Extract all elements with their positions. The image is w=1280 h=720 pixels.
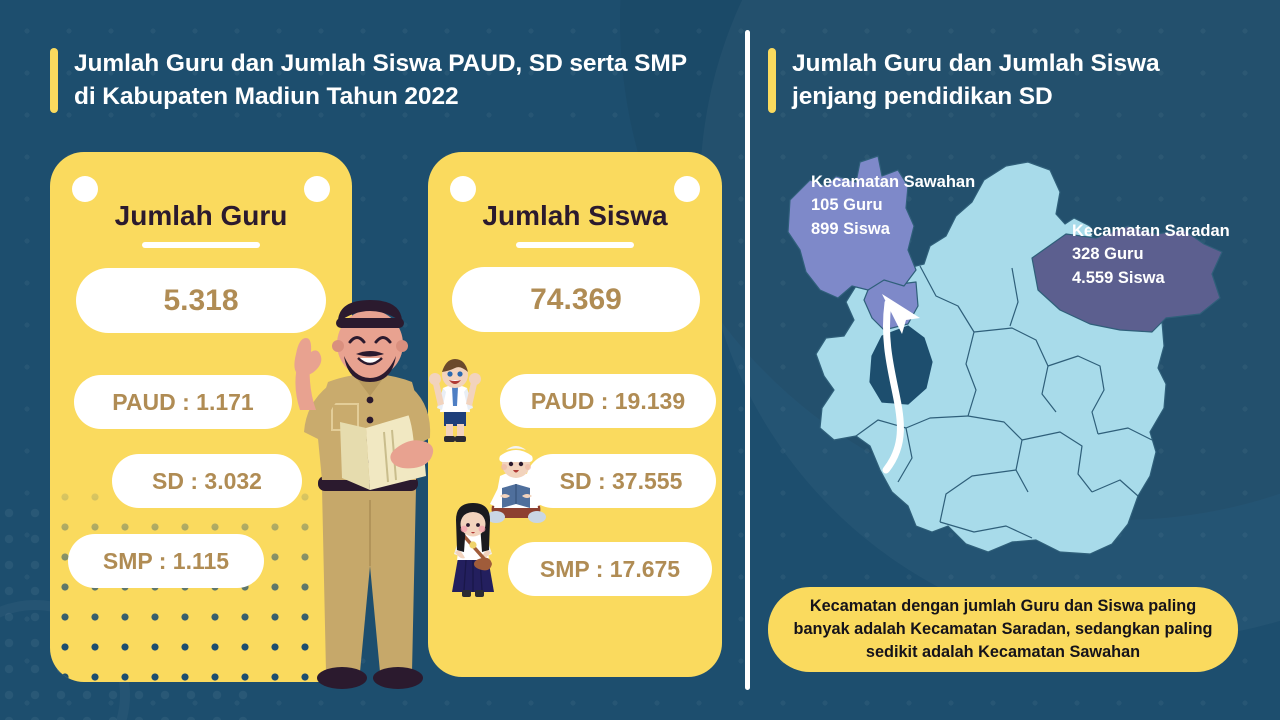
card-heading-siswa: Jumlah Siswa: [428, 200, 722, 232]
guru-sd-pill: SD : 3.032: [112, 454, 302, 508]
siswa-smp-pill: SMP : 17.675: [508, 542, 712, 596]
card-jumlah-siswa: Jumlah Siswa 74.369 PAUD : 19.139 SD : 3…: [428, 152, 722, 677]
card-punch-hole-left-guru: [72, 176, 98, 202]
left-title-text: Jumlah Guru dan Jumlah Siswa PAUD, SD se…: [74, 48, 710, 113]
summary-note-text: Kecamatan dengan jumlah Guru dan Siswa p…: [786, 595, 1220, 664]
siswa-total-pill: 74.369: [452, 267, 700, 332]
map-annotation-saradan: Kecamatan Saradan 328 Guru 4.559 Siswa: [1072, 220, 1230, 290]
sawahan-students: 899 Siswa: [811, 218, 975, 241]
guru-total-pill: 5.318: [76, 268, 326, 333]
right-title-text: Jumlah Guru dan Jumlah Siswa jenjang pen…: [792, 48, 1238, 113]
card-underline-siswa: [516, 242, 634, 248]
card-punch-hole-right-guru: [304, 176, 330, 202]
sawahan-teachers: 105 Guru: [811, 194, 975, 217]
guru-smp-pill: SMP : 1.115: [68, 534, 264, 588]
infographic-canvas: Jumlah Guru dan Jumlah Siswa PAUD, SD se…: [0, 0, 1280, 720]
siswa-sd-pill: SD : 37.555: [526, 454, 716, 508]
right-panel-title: Jumlah Guru dan Jumlah Siswa jenjang pen…: [768, 48, 1238, 113]
saradan-teachers: 328 Guru: [1072, 243, 1230, 266]
card-punch-hole-left-siswa: [450, 176, 476, 202]
title-accent-bar-right: [768, 48, 776, 113]
card-punch-hole-right-siswa: [674, 176, 700, 202]
card-underline-guru: [142, 242, 260, 248]
saradan-students: 4.559 Siswa: [1072, 267, 1230, 290]
siswa-paud-pill: PAUD : 19.139: [500, 374, 716, 428]
left-panel-title: Jumlah Guru dan Jumlah Siswa PAUD, SD se…: [50, 48, 710, 113]
card-jumlah-guru: Jumlah Guru 5.318 PAUD : 1.171 SD : 3.03…: [50, 152, 352, 682]
panel-divider: [745, 30, 750, 690]
guru-paud-pill: PAUD : 1.171: [74, 375, 292, 429]
title-accent-bar-left: [50, 48, 58, 113]
sawahan-name: Kecamatan Sawahan: [811, 171, 975, 194]
saradan-name: Kecamatan Saradan: [1072, 220, 1230, 243]
map-annotation-sawahan: Kecamatan Sawahan 105 Guru 899 Siswa: [811, 171, 975, 241]
card-heading-guru: Jumlah Guru: [50, 200, 352, 232]
summary-note-box: Kecamatan dengan jumlah Guru dan Siswa p…: [768, 587, 1238, 672]
